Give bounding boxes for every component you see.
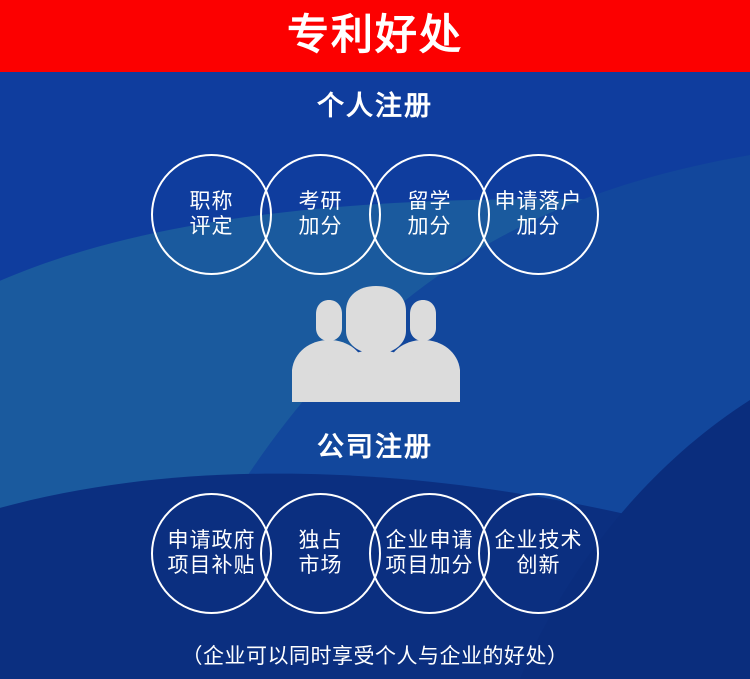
- circle-line-2: 项目加分: [386, 553, 474, 578]
- circle-line-2: 评定: [190, 214, 234, 239]
- circle-line-1: 申请落户: [495, 189, 583, 214]
- company-benefits-row: 申请政府 项目补贴 独占 市场 企业申请 项目加分 企业技术 创新: [0, 492, 750, 614]
- benefit-circle-job-title-evaluation[interactable]: 职称 评定: [151, 154, 272, 275]
- benefit-circle-household-registration-bonus[interactable]: 申请落户 加分: [478, 154, 599, 275]
- circle-line-2: 市场: [299, 553, 343, 578]
- personal-benefits-row: 职称 评定 考研 加分 留学 加分 申请落户 加分: [0, 153, 750, 275]
- footnote-text: （企业可以同时享受个人与企业的好处）: [0, 640, 750, 670]
- circle-line-1: 企业申请: [386, 528, 474, 553]
- circle-line-2: 项目补贴: [168, 553, 256, 578]
- circle-line-2: 加分: [299, 214, 343, 239]
- benefit-circle-market-monopoly[interactable]: 独占 市场: [260, 493, 381, 614]
- company-section-heading: 公司注册: [0, 425, 750, 464]
- benefit-circle-enterprise-tech-innovation[interactable]: 企业技术 创新: [478, 493, 599, 614]
- circle-line-2: 创新: [517, 553, 561, 578]
- circle-line-1: 申请政府: [168, 528, 256, 553]
- benefit-circle-enterprise-project-bonus[interactable]: 企业申请 项目加分: [369, 493, 490, 614]
- circle-line-1: 考研: [299, 189, 343, 214]
- circle-line-1: 职称: [190, 189, 234, 214]
- page-title: 专利好处: [0, 0, 750, 72]
- people-group-icon: [288, 284, 464, 402]
- circle-line-1: 留学: [408, 189, 452, 214]
- personal-section-heading: 个人注册: [0, 84, 750, 123]
- benefit-circle-government-project-subsidy[interactable]: 申请政府 项目补贴: [151, 493, 272, 614]
- benefit-circle-postgraduate-exam-bonus[interactable]: 考研 加分: [260, 154, 381, 275]
- circle-line-1: 企业技术: [495, 528, 583, 553]
- benefit-circle-study-abroad-bonus[interactable]: 留学 加分: [369, 154, 490, 275]
- circle-line-1: 独占: [299, 528, 343, 553]
- patent-benefits-infographic: 专利好处 个人注册 职称 评定 考研 加分 留学 加分 申请落户 加分: [0, 0, 750, 679]
- circle-line-2: 加分: [408, 214, 452, 239]
- circle-line-2: 加分: [517, 214, 561, 239]
